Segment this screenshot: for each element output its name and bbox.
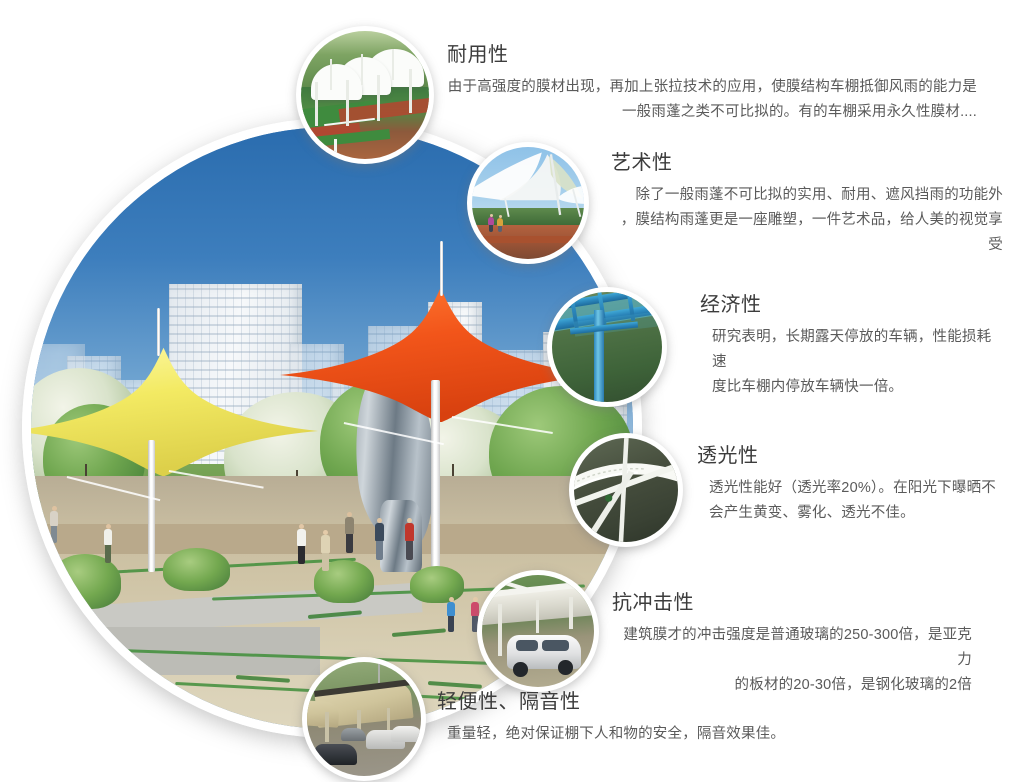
feature-body-lightweight-soundproof: 重量轻，绝对保证棚下人和物的安全，隔音效果佳。 bbox=[437, 722, 807, 747]
feature-block-impact-resistance: 抗冲击性 建筑膜才的冲击强度是普通玻璃的250-300倍，是亚克力 的板材的20… bbox=[612, 590, 972, 698]
thumb-artistry[interactable] bbox=[467, 142, 589, 264]
t5-post-1 bbox=[498, 604, 502, 656]
t5-post-3 bbox=[569, 597, 572, 628]
bush-2 bbox=[163, 548, 229, 590]
thumb-artistry-image bbox=[472, 147, 584, 259]
thumb-durability[interactable] bbox=[296, 26, 434, 164]
t1-post-1 bbox=[315, 82, 318, 126]
thumb-impact-resistance-image bbox=[482, 575, 594, 687]
thumb-durability-image bbox=[301, 31, 429, 159]
t5-suv-window-front bbox=[516, 640, 538, 651]
thumb-economy[interactable] bbox=[547, 287, 667, 407]
feature-body-economy: 研究表明，长期露天停放的车辆，性能损耗速 度比车棚内停放车辆快一倍。 bbox=[700, 325, 1000, 400]
thumb-lightweight-soundproof-image bbox=[307, 662, 421, 776]
feature-title-durability: 耐用性 bbox=[447, 42, 977, 68]
feature-title-economy: 经济性 bbox=[700, 292, 1000, 318]
feature-title-impact-resistance: 抗冲击性 bbox=[612, 590, 972, 616]
thumb-impact-resistance[interactable] bbox=[477, 570, 599, 692]
t6-post-3 bbox=[387, 708, 390, 733]
t2-person-2 bbox=[497, 215, 504, 232]
canopy-yellow-spire bbox=[157, 308, 160, 356]
feature-block-economy: 经济性 研究表明，长期露天停放的车辆，性能损耗速 度比车棚内停放车辆快一倍。 bbox=[700, 292, 1000, 400]
t2-sails bbox=[472, 147, 584, 259]
canopy-yellow-shape bbox=[31, 344, 320, 476]
pedestrian-2 bbox=[49, 506, 59, 544]
t1-post-4 bbox=[409, 69, 412, 113]
feature-infographic: 耐用性 由于高强度的膜材出现，再加上张拉技术的应用，使膜结构车棚抵御风雨的能力是… bbox=[0, 0, 1023, 782]
t5-post-2 bbox=[536, 600, 539, 634]
pedestrian-1 bbox=[103, 524, 113, 564]
feature-body-durability: 由于高强度的膜材出现，再加上张拉技术的应用，使膜结构车棚抵御风雨的能力是 一般雨… bbox=[447, 75, 977, 125]
t3-column bbox=[594, 310, 604, 402]
thumb-economy-image bbox=[552, 292, 662, 402]
feature-title-lightweight-soundproof: 轻便性、隔音性 bbox=[437, 689, 807, 715]
canopy-yellow-mast bbox=[148, 440, 155, 572]
thumb-translucency-image bbox=[574, 438, 678, 542]
t6-post-1 bbox=[325, 712, 328, 742]
t6-car-dark bbox=[314, 744, 357, 765]
feature-title-translucency: 透光性 bbox=[697, 443, 997, 469]
pedestrian-8 bbox=[446, 597, 456, 633]
t1-post-3 bbox=[377, 75, 380, 121]
pedestrian-4 bbox=[320, 530, 331, 572]
t5-suv-window-rear bbox=[542, 640, 569, 651]
t5-suv-wheel-rear bbox=[558, 660, 573, 675]
t5-suv-wheel-front bbox=[513, 662, 528, 677]
t4-membrane-frame bbox=[574, 438, 678, 542]
feature-block-durability: 耐用性 由于高强度的膜材出现，再加上张拉技术的应用，使膜结构车棚抵御风雨的能力是… bbox=[447, 42, 977, 125]
pedestrian-7 bbox=[404, 518, 415, 561]
plaza-sculpture-base bbox=[380, 500, 422, 572]
pedestrian-6 bbox=[374, 518, 385, 561]
t2-person-1 bbox=[488, 214, 495, 232]
pedestrian-3 bbox=[296, 524, 307, 565]
feature-block-translucency: 透光性 透光性能好（透光率20%）。在阳光下曝晒不 会产生黄变、雾化、透光不佳。 bbox=[697, 443, 997, 526]
feature-title-artistry: 艺术性 bbox=[611, 150, 1003, 176]
t1-post-2 bbox=[346, 80, 349, 126]
canopy-yellow bbox=[31, 344, 320, 476]
plaza-band-upper bbox=[31, 524, 633, 554]
thumb-lightweight-soundproof[interactable] bbox=[302, 657, 426, 781]
feature-block-artistry: 艺术性 除了一般雨蓬不可比拟的实用、耐用、遮风挡雨的功能外 ，膜结构雨蓬更是一座… bbox=[611, 150, 1003, 258]
feature-body-translucency: 透光性能好（透光率20%）。在阳光下曝晒不 会产生黄变、雾化、透光不佳。 bbox=[697, 476, 997, 526]
feature-block-lightweight-soundproof: 轻便性、隔音性 重量轻，绝对保证棚下人和物的安全，隔音效果佳。 bbox=[437, 689, 807, 747]
canopy-orange-spire bbox=[440, 241, 443, 295]
thumb-translucency[interactable] bbox=[569, 433, 683, 547]
t1-line-2 bbox=[334, 139, 337, 157]
feature-body-impact-resistance: 建筑膜才的冲击强度是普通玻璃的250-300倍，是亚克力 的板材的20-30倍，… bbox=[612, 623, 972, 698]
bush-5 bbox=[43, 645, 121, 705]
canopy-orange-mast bbox=[431, 380, 440, 573]
pedestrian-5 bbox=[344, 512, 355, 554]
t1-post-6 bbox=[361, 54, 363, 85]
t1-post-7 bbox=[392, 49, 394, 80]
t6-car-far bbox=[341, 728, 366, 741]
t6-car-white bbox=[391, 726, 421, 742]
t1-post-5 bbox=[330, 59, 332, 90]
feature-body-artistry: 除了一般雨蓬不可比拟的实用、耐用、遮风挡雨的功能外 ，膜结构雨蓬更是一座雕塑，一… bbox=[611, 183, 1003, 258]
